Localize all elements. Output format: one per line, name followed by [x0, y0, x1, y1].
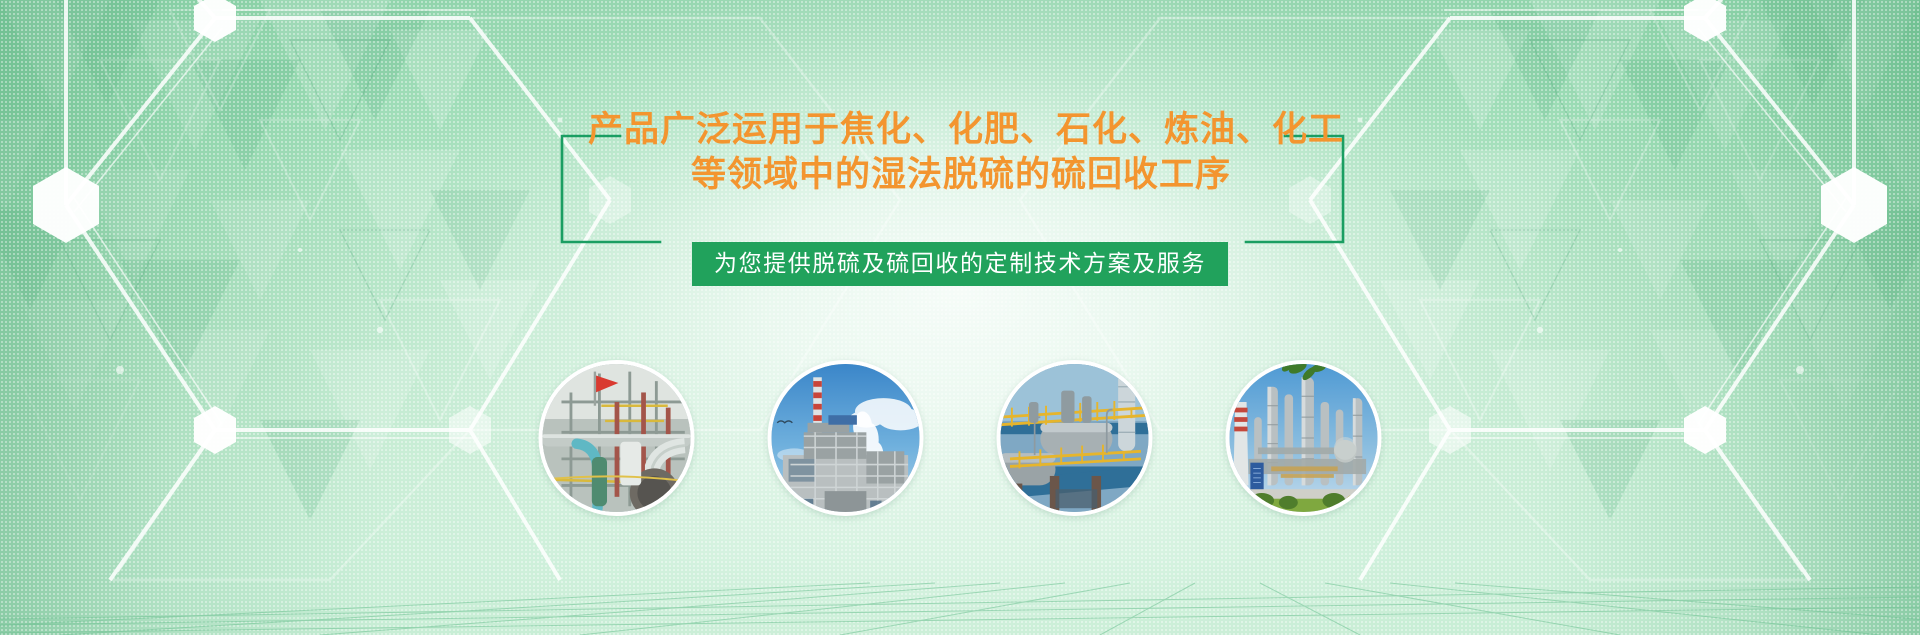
photo-2-scene	[772, 364, 920, 512]
photo-2-svg	[772, 364, 920, 512]
photo-4-svg	[1230, 364, 1378, 512]
photo-4-scene	[1230, 364, 1378, 512]
banner-headline: 产品广泛运用于焦化、化肥、石化、炼油、化工 等领域中的湿法脱硫的硫回收工序	[0, 108, 1920, 198]
sulfur-recovery-plant-photo[interactable]	[539, 360, 695, 516]
banner-content: 产品广泛运用于焦化、化肥、石化、炼油、化工 等领域中的湿法脱硫的硫回收工序 为您…	[0, 0, 1920, 635]
headline-line-1: 产品广泛运用于焦化、化肥、石化、炼油、化工	[0, 108, 1920, 153]
photo-1-svg	[543, 364, 691, 512]
headline-line-2: 等领域中的湿法脱硫的硫回收工序	[0, 153, 1920, 198]
flue-gas-stack-photo[interactable]	[768, 360, 924, 516]
refinery-columns-photo[interactable]	[1226, 360, 1382, 516]
banner-subtitle-bar: 为您提供脱硫及硫回收的定制技术方案及服务	[692, 242, 1228, 286]
pressure-vessel-unit-photo[interactable]	[997, 360, 1153, 516]
photo-1-scene	[543, 364, 691, 512]
photo-gallery-row	[539, 360, 1382, 516]
hero-banner: 产品广泛运用于焦化、化肥、石化、炼油、化工 等领域中的湿法脱硫的硫回收工序 为您…	[0, 0, 1920, 635]
photo-3-svg	[1001, 364, 1149, 512]
photo-3-scene	[1001, 364, 1149, 512]
